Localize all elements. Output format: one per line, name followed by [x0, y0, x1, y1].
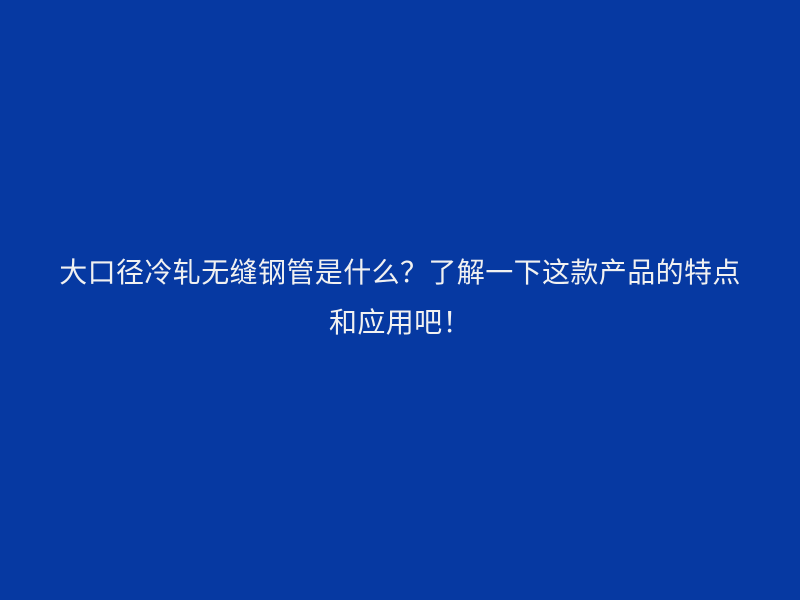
page-title: 大口径冷轧无缝钢管是什么？了解一下这款产品的特点和应用吧！ — [46, 248, 754, 348]
title-banner: 大口径冷轧无缝钢管是什么？了解一下这款产品的特点和应用吧！ — [0, 0, 800, 600]
headline-block: 大口径冷轧无缝钢管是什么？了解一下这款产品的特点和应用吧！ — [0, 248, 800, 348]
